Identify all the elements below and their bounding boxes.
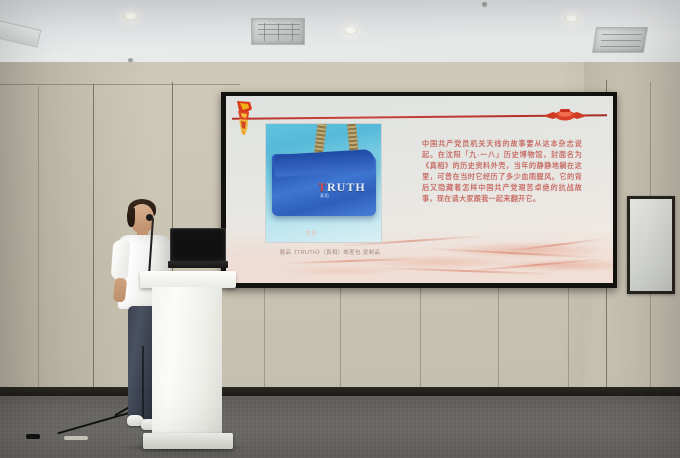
downlight-icon: [123, 12, 139, 21]
chinese-knot-tassel-icon: [234, 100, 255, 135]
floor-cable: [64, 436, 88, 440]
laptop[interactable]: [168, 228, 228, 272]
bag-flap: [273, 149, 374, 177]
downlight-icon: [564, 14, 579, 23]
downlight-icon: [343, 26, 358, 35]
air-vent-icon: [251, 18, 305, 45]
wall-seam: [93, 84, 94, 398]
slide-body-text: 中国共产党员机关天线的故事要从这本杂志说起。在沈阳「九·一八」历史博物馆，封面名…: [422, 138, 582, 204]
wall-seam: [38, 86, 39, 398]
hair-side: [127, 208, 135, 227]
red-ribbon-emblem-icon: [543, 108, 587, 123]
lectern-base: [143, 433, 233, 449]
laptop-screen[interactable]: [170, 228, 226, 262]
wall-seam: [568, 272, 569, 398]
projection-screen-frame: TRUTH 真相 真相 展品《TRUTH》（真相）邮差包·复制品 中国共产党员机…: [221, 92, 617, 288]
lectern-body: [152, 287, 222, 433]
wall-seam: [498, 270, 499, 398]
slide-photo: TRUTH 真相 真相: [265, 123, 382, 243]
sprinkler-icon: [482, 2, 487, 6]
lectern: [140, 271, 236, 449]
cable-plug: [26, 434, 40, 439]
bag-strap: [314, 123, 327, 154]
ceiling-slot: [0, 18, 41, 47]
bag-strap: [347, 123, 359, 152]
lectern-top: [140, 271, 236, 288]
bag-word-rest: RUTH: [327, 180, 366, 194]
slide-photo-caption: 展品《TRUTH》（真相）邮差包·复制品: [270, 248, 390, 256]
projection-screen: TRUTH 真相 真相 展品《TRUTH》（真相）邮差包·复制品 中国共产党员机…: [226, 96, 613, 283]
wall-seam-horizontal: [0, 84, 240, 85]
canvas-bag: TRUTH 真相: [272, 154, 376, 216]
sleeve: [111, 239, 131, 280]
whiteboard: [627, 196, 675, 294]
floor: [0, 396, 680, 458]
photo-tag: 真相: [306, 230, 317, 237]
bag-sub-label: 真相: [320, 193, 329, 199]
air-vent-icon: [592, 27, 648, 53]
laptop-keyboard[interactable]: [168, 261, 228, 268]
bag-word-first: T: [318, 180, 327, 194]
conference-room-scene: TRUTH 真相 真相 展品《TRUTH》（真相）邮差包·复制品 中国共产党员机…: [0, 0, 680, 458]
